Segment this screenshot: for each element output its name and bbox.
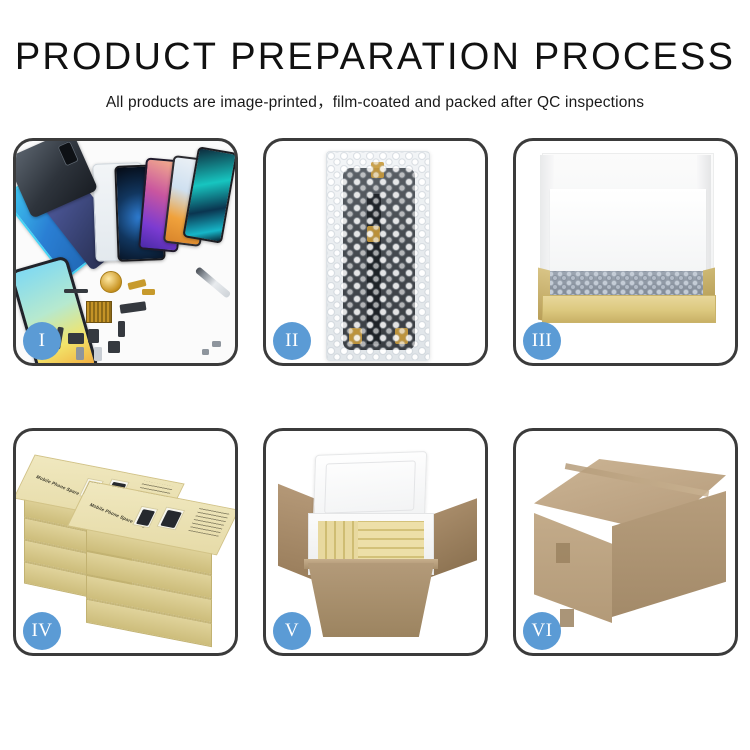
panel-badge-2: II [273,322,311,360]
page-header: PRODUCT PREPARATION PROCESS All products… [0,0,750,112]
small-part [120,301,147,314]
carton-left-face [534,513,612,623]
process-panel-4[interactable]: Mobile Phone Spare Parts Mobile Phone Sp… [13,428,238,656]
box-spec-lines [188,507,230,537]
panel-badge-1: I [23,322,61,360]
small-part [76,347,84,360]
small-part [88,329,99,343]
carton-body [308,563,434,637]
bubble-wrap-bag [326,151,430,361]
small-part [202,349,209,355]
process-panel-grid: I II III [13,138,737,656]
small-part [212,341,221,347]
carton-flap-tab [560,609,574,627]
small-part [118,321,125,337]
box-window [156,507,185,531]
panel-badge-4: IV [23,612,61,650]
page-subtitle: All products are image-printed，film-coat… [0,90,750,112]
gold-grid-chip [86,301,112,323]
panel-badge-3: III [523,322,561,360]
gold-coil-component [100,271,122,293]
box-front-wall [542,295,716,323]
tape-tab [371,162,384,178]
small-part [94,347,102,361]
process-panel-6[interactable]: VI [513,428,738,656]
panel-badge-5: V [273,612,311,650]
process-panel-5[interactable]: V [263,428,488,656]
tape-tab [395,328,408,344]
flex-cable [367,194,381,344]
small-part [108,341,120,353]
bubble-wrap-padding [548,271,710,297]
process-panel-3[interactable]: III [513,138,738,366]
tape-tab [349,328,362,344]
carton-flap-tab [556,543,570,563]
tape-tab [367,226,380,242]
panel-badge-6: VI [523,612,561,650]
small-part [64,289,88,293]
small-part [142,289,155,295]
white-foam-sheet [550,189,706,271]
page-title: PRODUCT PREPARATION PROCESS [0,38,750,76]
box-window [132,506,158,528]
screwdriver-tool [195,266,232,298]
process-panel-1[interactable]: I [13,138,238,366]
small-part [68,333,84,344]
process-panel-2[interactable]: II [263,138,488,366]
